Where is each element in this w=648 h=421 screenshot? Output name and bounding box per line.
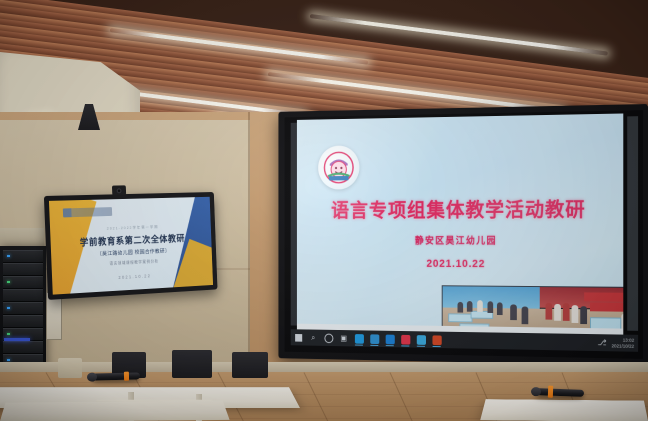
- room-photo-scene: 2021-2022学年第一学期 学前教育系第二次全体教研 〔昊江路幼儿园 校园合…: [0, 0, 648, 421]
- search-icon[interactable]: ⌕: [306, 329, 321, 345]
- powerpoint-app-icon[interactable]: [429, 331, 445, 348]
- taskbar-tray[interactable]: ⎇13:022021/10/22: [598, 337, 639, 348]
- app-glyph: [385, 334, 394, 344]
- av-rack-led-icon: [7, 281, 10, 283]
- pane-person: [497, 302, 503, 315]
- browser-app-icon[interactable]: [382, 331, 397, 348]
- running-indicator: [417, 345, 425, 347]
- table-foreground-left-front: [0, 401, 230, 421]
- pane-person: [554, 304, 561, 321]
- pane-seating: [584, 292, 623, 301]
- slide-date: 2021.10.22: [297, 258, 623, 271]
- presentation-slide[interactable]: 语言专项组集体教学活动教研 静安区昊江幼儿园 2021.10.22: [297, 113, 623, 335]
- handheld-microphone-left[interactable]: [92, 372, 140, 380]
- app-glyph: [354, 334, 363, 344]
- floor-plank-line: [0, 382, 648, 383]
- institution-logo: [63, 207, 112, 217]
- av-rack-led-icon: [7, 255, 10, 257]
- microphone-head-icon: [531, 387, 541, 396]
- network-icon[interactable]: ⎇: [598, 339, 607, 347]
- av-rack-top-surface: [0, 228, 44, 248]
- wall-seam: [248, 112, 250, 372]
- app-glyph: [370, 334, 379, 344]
- slide-title: 语言专项组集体教学活动教研: [297, 193, 623, 223]
- start-icon[interactable]: [291, 329, 306, 345]
- kindergarten-logo: [318, 145, 359, 189]
- running-indicator: [386, 345, 394, 347]
- pane-person: [467, 301, 473, 312]
- av-rack-led-icon: [7, 359, 10, 361]
- letterbox-bar-right: [627, 116, 638, 331]
- microphone-head-icon: [87, 372, 97, 381]
- running-indicator: [370, 344, 378, 346]
- running-indicator: [355, 344, 363, 346]
- media-app-icon[interactable]: [413, 331, 429, 348]
- pane-person: [621, 314, 623, 330]
- pane-person: [572, 305, 579, 323]
- av-rack-unit[interactable]: [3, 341, 43, 354]
- av-rack-led-icon: [7, 333, 10, 335]
- chair-back-dark: [232, 352, 268, 378]
- app-glyph: [416, 335, 425, 345]
- clock-date: 2021/10/22: [611, 343, 634, 349]
- running-indicator: [432, 346, 440, 348]
- taskbar-clock[interactable]: 13:022021/10/22: [611, 337, 634, 348]
- pane-seating: [590, 302, 623, 312]
- app-glyph: [432, 335, 441, 345]
- task-view-icon[interactable]: ▣: [336, 330, 351, 346]
- small-interactive-display[interactable]: 2021-2022学年第一学期 学前教育系第二次全体教研 〔昊江路幼儿园 校园合…: [44, 192, 218, 300]
- floor-plank-line: [390, 372, 453, 421]
- cortana-glyph: [324, 333, 333, 343]
- pane-person: [510, 304, 517, 320]
- pane-person: [522, 307, 529, 325]
- microphone-ring: [548, 386, 553, 398]
- wps-app-icon[interactable]: [398, 331, 414, 348]
- slide-subtitle: 静安区昊江幼儿园: [297, 233, 623, 247]
- cortana-icon[interactable]: [321, 330, 336, 346]
- app-glyph: [401, 334, 410, 344]
- pane-person: [580, 306, 587, 324]
- av-rack-unit[interactable]: [3, 263, 43, 276]
- kindergarten-logo-mark: [322, 149, 356, 185]
- microphone-ring: [124, 372, 129, 381]
- pane-desk: [448, 313, 472, 322]
- microphone-shadow: [534, 396, 580, 400]
- av-rack-unit[interactable]: [3, 315, 43, 328]
- webcam-icon: [112, 185, 126, 195]
- meeting-app-icon[interactable]: [367, 330, 382, 347]
- table-foreground-right: [480, 399, 648, 421]
- start-glyph: [295, 334, 302, 342]
- running-indicator: [401, 345, 409, 347]
- small-display-screen[interactable]: 2021-2022学年第一学期 学前教育系第二次全体教研 〔昊江路幼儿园 校园合…: [49, 197, 213, 295]
- pane-person: [488, 301, 494, 313]
- chair-back-light: [58, 358, 82, 378]
- pane-person: [546, 303, 553, 320]
- pane-person: [477, 300, 483, 312]
- pane-person: [458, 302, 464, 313]
- large-display-panel[interactable]: 语言专项组集体教学活动教研 静安区昊江幼儿园 2021.10.22: [285, 110, 643, 359]
- edge-browser-icon[interactable]: [351, 330, 366, 346]
- taskbar-glyph: ▣: [340, 334, 347, 342]
- av-rack-led-icon: [7, 307, 10, 309]
- pane-person: [563, 303, 570, 321]
- av-equipment-rack[interactable]: [0, 246, 46, 370]
- av-rack-display-bar: [4, 338, 30, 341]
- taskbar-glyph: ⌕: [311, 334, 315, 342]
- large-wall-display[interactable]: 语言专项组集体教学活动教研 静安区昊江幼儿园 2021.10.22: [278, 104, 648, 366]
- floor-plank-line: [304, 372, 371, 421]
- av-rack-unit[interactable]: [3, 289, 43, 302]
- chair-back-dark: [172, 350, 212, 378]
